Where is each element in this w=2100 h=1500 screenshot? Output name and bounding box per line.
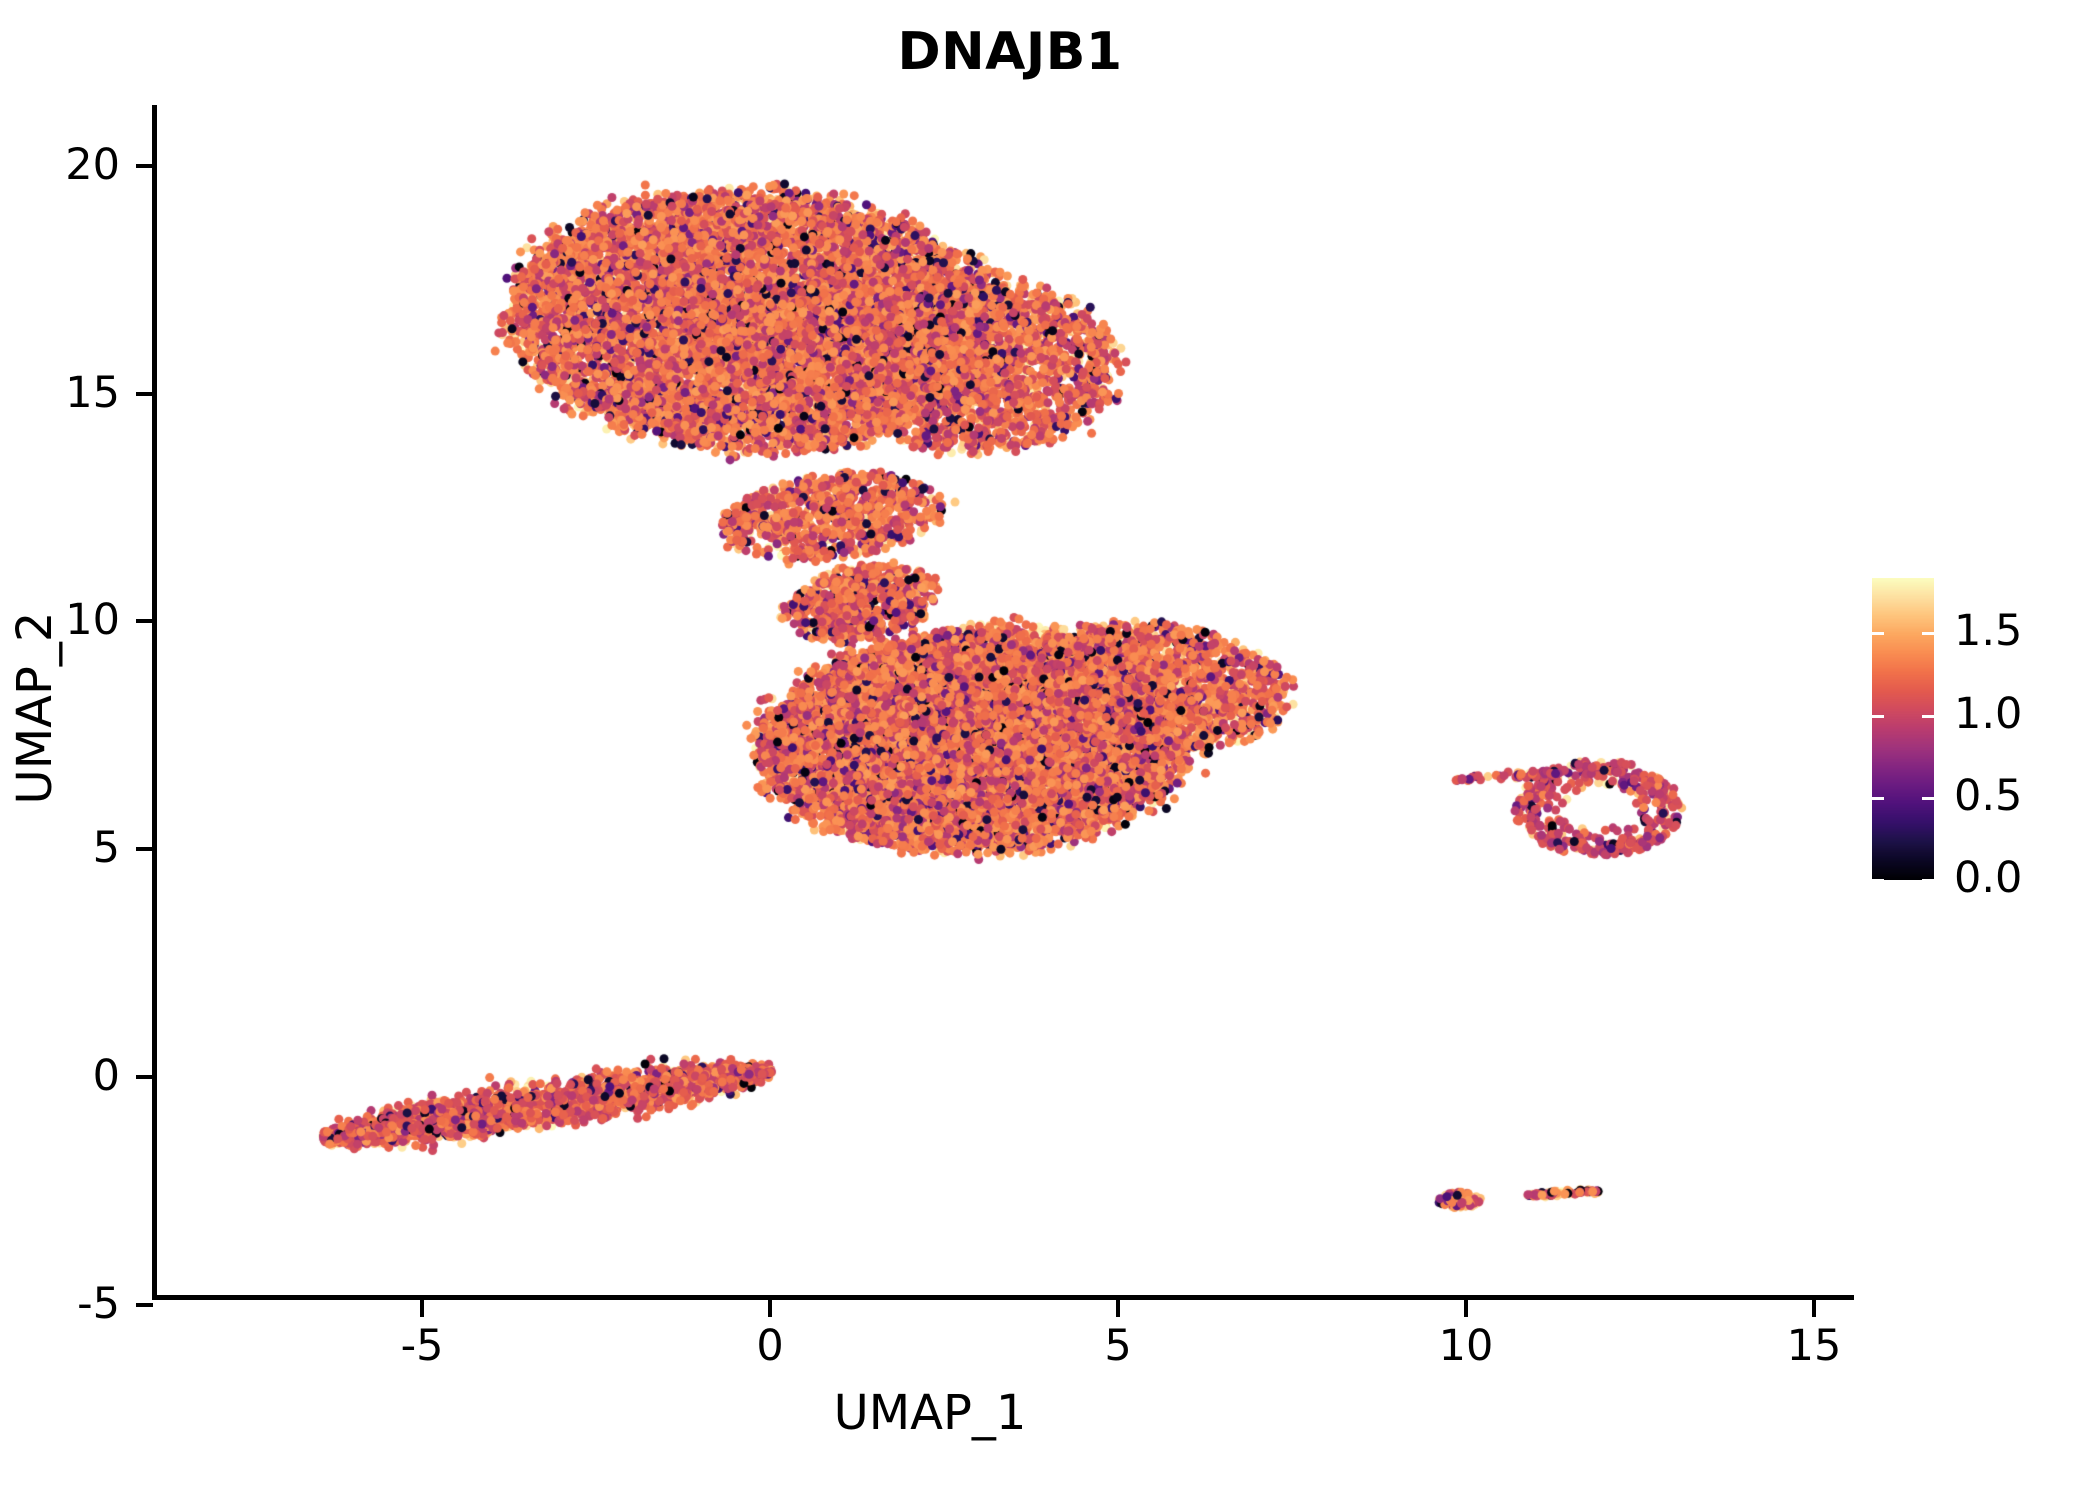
x-tick-label: 10 [1386, 1325, 1546, 1368]
figure-canvas: DNAJB1 20151050-5 -5051015 UMAP_1 UMAP_2… [0, 0, 2100, 1500]
x-tick-label: 0 [690, 1325, 850, 1368]
x-tick-label: 5 [1038, 1325, 1198, 1368]
colorbar-tick-mark [1872, 797, 1884, 800]
colorbar-tick-mark [1872, 632, 1884, 635]
colorbar-tick-mark [1872, 879, 1884, 882]
x-axis-spine [152, 1295, 1854, 1300]
umap-scatter-plot [157, 105, 1854, 1295]
colorbar-tick-mark [1922, 715, 1934, 718]
x-tick-mark [420, 1300, 424, 1317]
x-axis-label: UMAP_1 [0, 1385, 1860, 1441]
x-tick-mark [768, 1300, 772, 1317]
colorbar-tick-label: 0.0 [1954, 857, 2022, 900]
y-tick-mark [136, 164, 153, 168]
colorbar-tick-mark [1872, 715, 1884, 718]
y-tick-mark [136, 1303, 153, 1307]
y-tick-mark [136, 1075, 153, 1079]
x-tick-mark [1464, 1300, 1468, 1317]
page-title: DNAJB1 [0, 22, 2020, 82]
x-tick-mark [1812, 1300, 1816, 1317]
x-tick-label: -5 [342, 1325, 502, 1368]
y-tick-label: 20 [0, 144, 120, 187]
y-tick-label: -5 [0, 1283, 120, 1326]
colorbar-tick-mark [1922, 797, 1934, 800]
x-tick-mark [1116, 1300, 1120, 1317]
colorbar-tick-label: 1.0 [1954, 693, 2022, 736]
colorbar-tick-mark [1922, 879, 1934, 882]
y-axis-label: UMAP_2 [7, 408, 63, 1008]
x-tick-label: 15 [1734, 1325, 1894, 1368]
colorbar-tick-label: 1.5 [1954, 610, 2022, 653]
y-tick-mark [136, 847, 153, 851]
colorbar-tick-mark [1922, 632, 1934, 635]
y-tick-mark [136, 392, 153, 396]
colorbar-gradient [1872, 578, 1934, 880]
y-tick-mark [136, 619, 153, 623]
colorbar-tick-label: 0.5 [1954, 775, 2022, 818]
y-tick-label: 0 [0, 1055, 120, 1098]
